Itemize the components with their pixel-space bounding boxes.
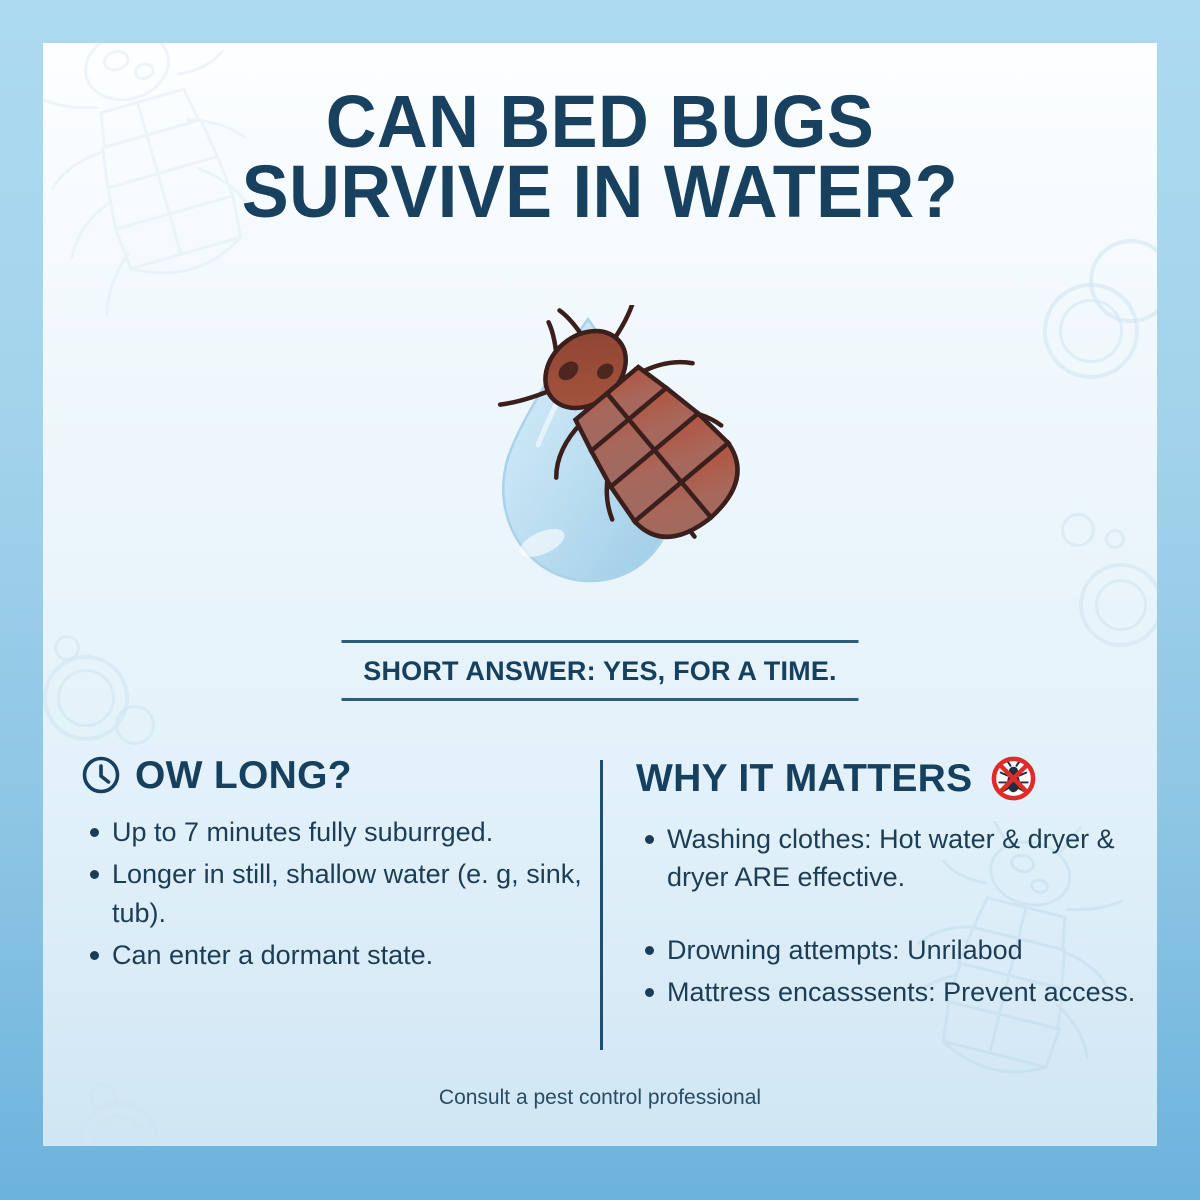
bubble-decoration (1059, 299, 1123, 363)
bubble-decoration (115, 705, 155, 745)
footer-note: Consult a pest control professional (43, 1086, 1157, 1110)
list-item: Can enter a dormant state. (81, 936, 591, 974)
bubble-decoration (1043, 283, 1139, 379)
heading-text: OW LONG? (135, 756, 352, 795)
column-divider (600, 760, 603, 1050)
heading-text: WHY IT MATTERS (636, 759, 972, 798)
list-item: Washing clothes: Hot water & dryer & dry… (636, 820, 1136, 897)
infographic-card: CAN BED BUGS SURVIVE IN WATER? (43, 43, 1157, 1146)
column-heading-why-it-matters: WHY IT MATTERS (636, 755, 1136, 802)
bubble-decoration (57, 669, 115, 727)
bubble-decoration (54, 635, 80, 661)
list-item: Up to 7 minutes fully suburrged. (81, 813, 591, 851)
bubble-decoration (1079, 563, 1157, 647)
list-item: Longer in still, shallow water (e. g, si… (81, 855, 591, 932)
bubble-decoration (93, 1115, 145, 1146)
column-heading-how-long: OW LONG? (81, 755, 591, 795)
short-answer-text: SHORT ANSWER: YES, FOR A TIME. (342, 656, 859, 687)
bubble-decoration (1089, 239, 1157, 323)
list-item: Drowning attempts: Unrilabod (636, 931, 1136, 969)
no-bug-icon (990, 755, 1037, 802)
clock-icon (81, 755, 121, 795)
water-droplet-with-bed-bug-illustration (430, 305, 770, 645)
list-item: Mattress encasssents: Prevent access. (636, 973, 1136, 1011)
bubble-decoration (1061, 513, 1095, 547)
bubble-decoration (43, 655, 129, 741)
bullet-list-why-it-matters: Washing clothes: Hot water & dryer & dry… (636, 820, 1136, 1011)
title-line-2: SURVIVE IN WATER? (71, 157, 1129, 227)
column-how-long: OW LONG? Up to 7 minutes fully suburrged… (81, 755, 591, 978)
infographic-frame: CAN BED BUGS SURVIVE IN WATER? (0, 0, 1200, 1200)
short-answer-band: SHORT ANSWER: YES, FOR A TIME. (342, 640, 859, 701)
column-why-it-matters: WHY IT MATTERS Washing cl (636, 755, 1136, 1015)
bubble-decoration (1105, 529, 1125, 549)
content-columns: OW LONG? Up to 7 minutes fully suburrged… (43, 755, 1157, 1085)
page-title: CAN BED BUGS SURVIVE IN WATER? (71, 87, 1129, 228)
bullet-list-how-long: Up to 7 minutes fully suburrged. Longer … (81, 813, 591, 974)
bubble-decoration (1095, 579, 1147, 631)
